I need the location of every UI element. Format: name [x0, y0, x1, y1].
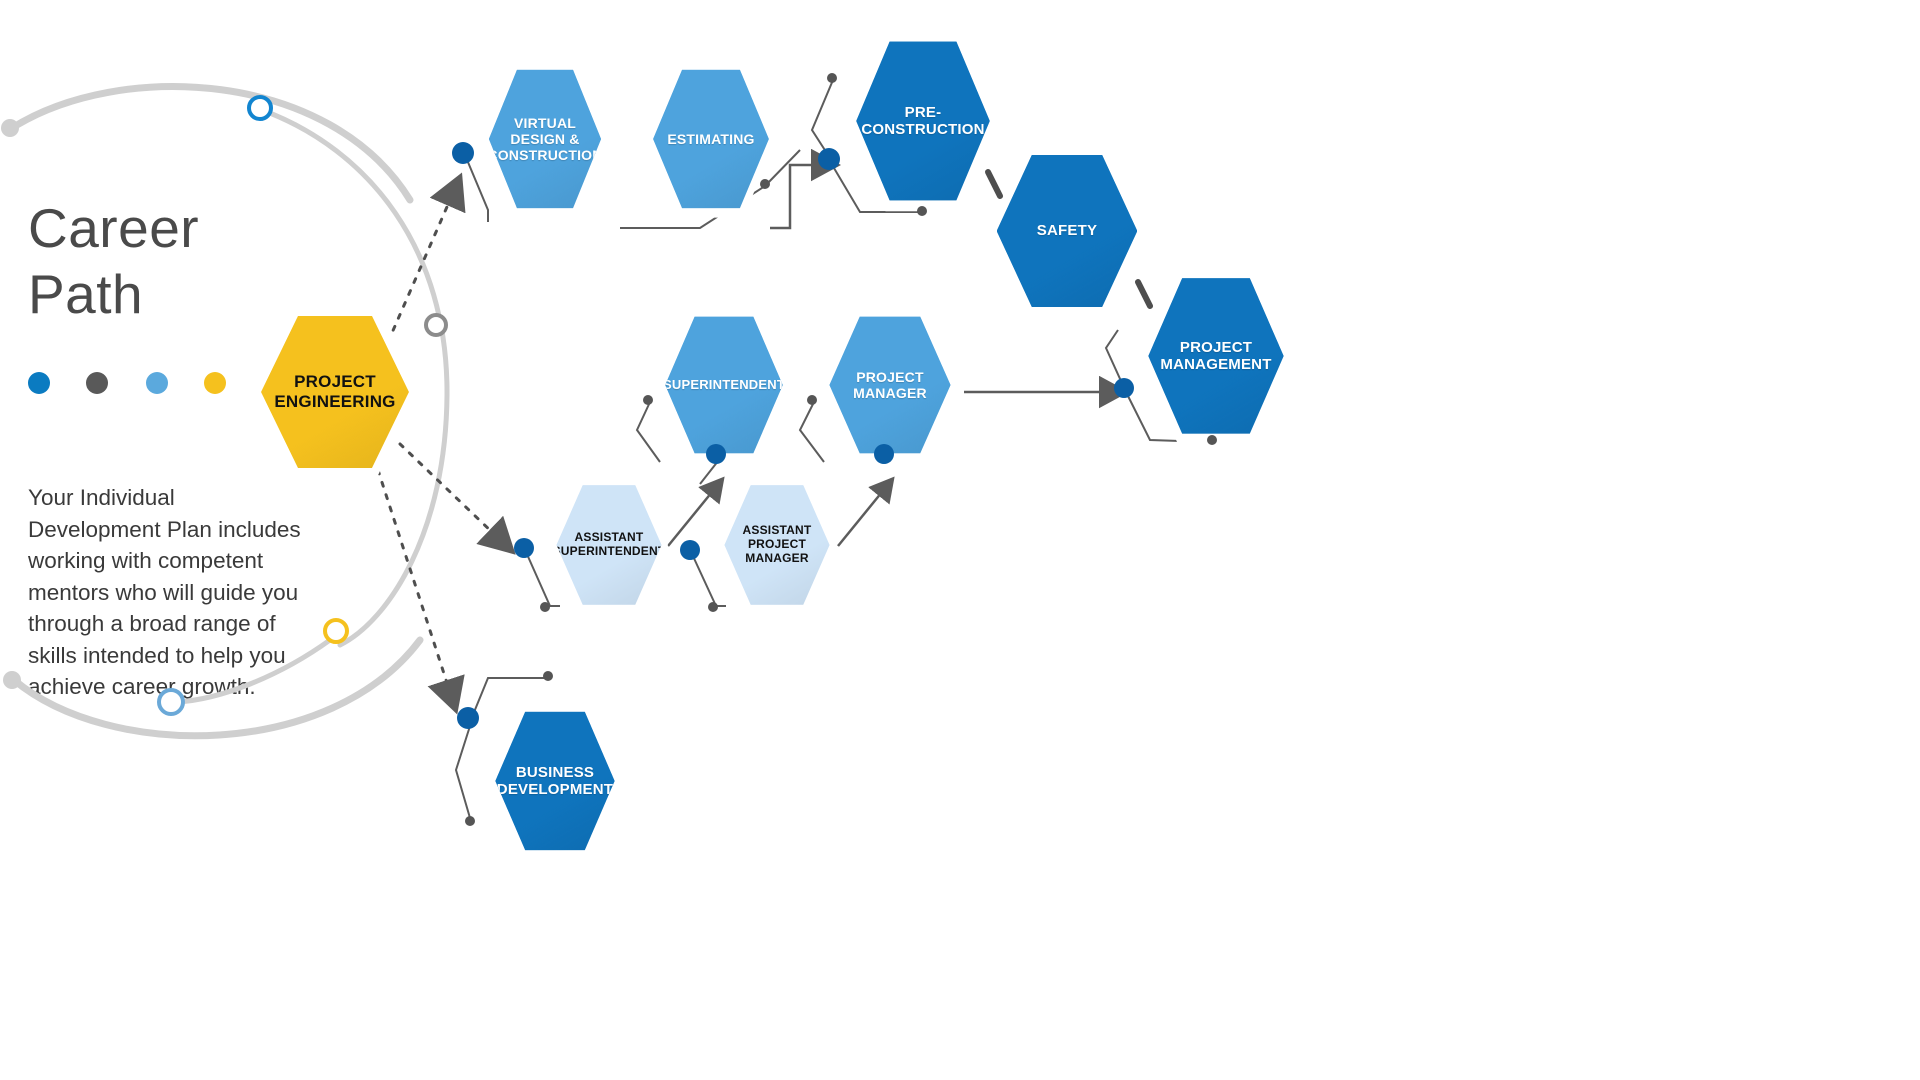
hex-label: PROJECT MANAGER: [853, 369, 927, 401]
dot-project-manager: [874, 444, 894, 464]
bracket-superintendent-left: [637, 402, 660, 462]
career-path-diagram: Career Path Your Individual Development …: [0, 0, 1920, 1080]
ring-yellow: [323, 618, 349, 644]
dot-small-projectmanagement: [1207, 435, 1217, 445]
hex-node-business-development[interactable]: BUSINESS DEVELOPMENT: [488, 700, 622, 862]
bracket-projectmanager-left: [800, 402, 824, 462]
dot-small-projectmanager: [807, 395, 817, 405]
hex-label: ESTIMATING: [667, 131, 754, 147]
hex-node-assistant-superintendent[interactable]: ASSISTANT SUPERINTENDENT: [550, 475, 668, 615]
hex-node-estimating[interactable]: ESTIMATING: [646, 58, 776, 220]
hex-label: VIRTUAL DESIGN & CONSTRUCTION: [487, 115, 602, 164]
dot-small-preconstruction-bottom: [917, 206, 927, 216]
dot-business-development: [457, 707, 479, 729]
hex-label: ASSISTANT PROJECT MANAGER: [724, 524, 829, 566]
dot-assistant-superintendent: [514, 538, 534, 558]
dot-small-business-dev-low: [465, 816, 475, 826]
ring-lightblue: [157, 688, 185, 716]
bracket-business-development-bottom: [456, 726, 470, 818]
hex-label: PROJECT MANAGEMENT: [1160, 339, 1271, 374]
dot-small-vdc-right: [760, 179, 770, 189]
hex-label: SAFETY: [1037, 222, 1097, 239]
hex-node-assistant-project-manager[interactable]: ASSISTANT PROJECT MANAGER: [718, 475, 836, 615]
ring-blue: [247, 95, 273, 121]
hex-node-superintendent[interactable]: SUPERINTENDENT: [658, 305, 790, 465]
hex-node-virtual-design[interactable]: VIRTUAL DESIGN & CONSTRUCTION: [482, 58, 608, 220]
hex-label: ASSISTANT SUPERINTENDENT: [553, 531, 666, 559]
hex-node-project-management[interactable]: PROJECT MANAGEMENT: [1140, 265, 1292, 447]
dot-superintendent: [706, 444, 726, 464]
dot-small-superintendent: [643, 395, 653, 405]
dot-small-assistant-pm: [708, 602, 718, 612]
hex-label: SUPERINTENDENT: [663, 377, 785, 392]
hex-node-project-engineering[interactable]: PROJECT ENGINEERING: [252, 303, 418, 481]
hex-node-pre-construction[interactable]: PRE-CONSTRUCTION: [848, 28, 998, 214]
arc-endcap-top: [1, 119, 19, 137]
dot-small-assistant-super: [540, 602, 550, 612]
dot-virtual-design: [452, 142, 474, 164]
dot-small-business-dev: [543, 671, 553, 681]
arrow-assistant-project-manager-up: [838, 492, 882, 546]
bracket-preconstruction-left: [812, 80, 833, 158]
dot-project-management: [1114, 378, 1134, 398]
ring-gray: [424, 313, 448, 337]
hex-node-project-manager[interactable]: PROJECT MANAGER: [822, 305, 958, 465]
hex-label: PROJECT ENGINEERING: [274, 372, 395, 411]
hex-node-safety[interactable]: SAFETY: [988, 142, 1146, 320]
arc-endcap-bottom: [3, 671, 21, 689]
arrow-assistant-superintendent-up: [668, 492, 712, 546]
hex-label: PRE-CONSTRUCTION: [856, 104, 990, 139]
dot-pre-construction: [818, 148, 840, 170]
dot-assistant-project-manager: [680, 540, 700, 560]
branch-to-business-development: [378, 470, 448, 686]
hex-label: BUSINESS DEVELOPMENT: [497, 764, 613, 799]
dot-small-preconstruction-top: [827, 73, 837, 83]
